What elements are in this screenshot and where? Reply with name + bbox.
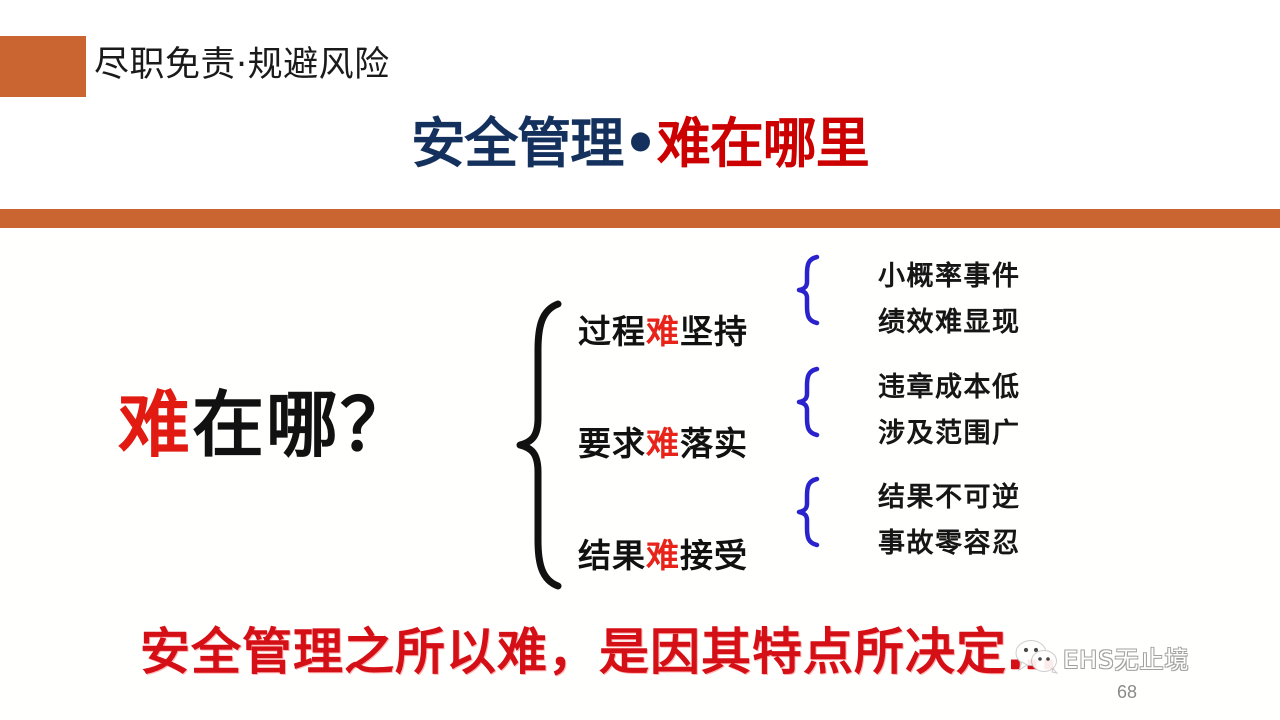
inner-brace-icon — [795, 254, 825, 326]
branch-detail-item: 涉及范围广 — [878, 411, 1078, 457]
header-kicker: 尽职免责·规避风险 — [94, 39, 390, 91]
branch-label-highlight: 难 — [646, 312, 680, 351]
branch-detail-group: 结果不可逆 事故零容忍 — [878, 475, 1078, 567]
outer-brace-icon — [512, 300, 570, 590]
branch-label-column: 过程难坚持 要求难落实 结果难接受 — [578, 270, 788, 590]
branch-detail-group: 违章成本低 涉及范围广 — [878, 365, 1078, 457]
branch-label-highlight: 难 — [646, 424, 680, 463]
branch-detail-group: 小概率事件 绩效难显现 — [878, 254, 1078, 346]
branch-label-suffix: 接受 — [680, 536, 748, 575]
branch-label-highlight: 难 — [646, 536, 680, 575]
page-title-accent: 难在哪里 — [657, 112, 869, 175]
watermark: EHS无止境 — [1015, 640, 1189, 679]
branch-label-suffix: 落实 — [680, 424, 748, 463]
page-number: 68 — [1117, 681, 1137, 703]
branch-label-prefix: 过程 — [578, 312, 646, 351]
header-divider-bar — [0, 209, 1280, 228]
branch-label-suffix: 坚持 — [680, 312, 748, 351]
branch-label-prefix: 结果 — [578, 536, 646, 575]
wechat-icon — [1015, 640, 1059, 679]
branch-detail-item: 小概率事件 — [878, 254, 1078, 300]
branch-label-prefix: 要求 — [578, 424, 646, 463]
header-accent-block — [0, 36, 86, 97]
watermark-label: EHS无止境 — [1063, 647, 1189, 673]
branch-detail-item: 结果不可逆 — [878, 475, 1078, 521]
inner-brace-icon — [795, 366, 825, 438]
lead-phrase-highlight: 难 — [118, 383, 192, 467]
branch-detail-item: 违章成本低 — [878, 365, 1078, 411]
branch-label: 过程难坚持 — [578, 310, 788, 354]
branch-label: 要求难落实 — [578, 422, 788, 466]
branch-detail-item: 事故零容忍 — [878, 521, 1078, 567]
page-title: 安全管理•难在哪里 — [0, 110, 1280, 178]
conclusion-text: 安全管理之所以难，是因其特点所决定… — [140, 620, 1058, 684]
lead-phrase: 难在哪？ — [118, 382, 414, 468]
inner-brace-icon — [795, 476, 825, 548]
branch-detail-item: 绩效难显现 — [878, 300, 1078, 346]
slide: 尽职免责·规避风险 安全管理•难在哪里 难在哪？ 过程难坚持 要求难落实 结果难… — [0, 0, 1280, 720]
lead-phrase-rest: 在哪？ — [192, 383, 414, 467]
branch-label: 结果难接受 — [578, 534, 788, 578]
page-title-primary: 安全管理• — [411, 112, 657, 175]
